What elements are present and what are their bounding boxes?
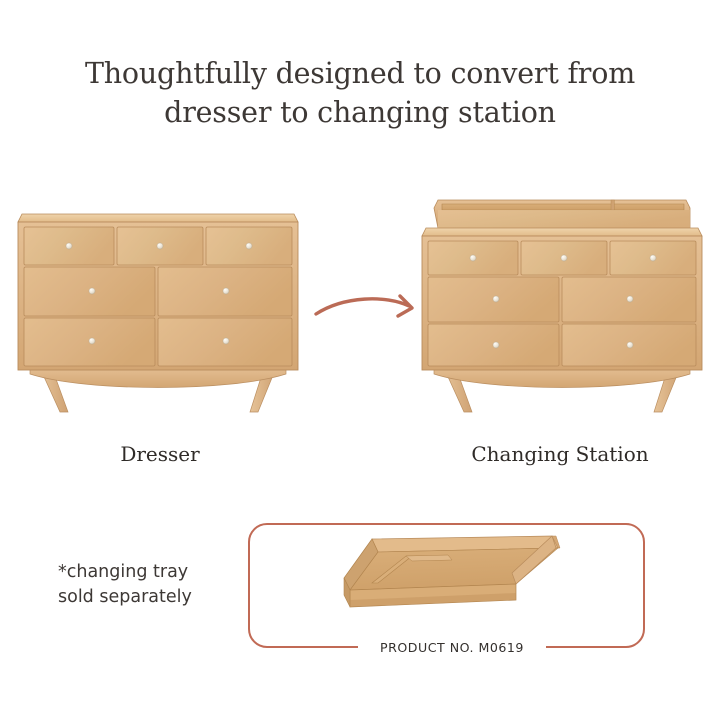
- changing-station-top: [422, 228, 702, 236]
- drawer-knob[interactable]: [246, 243, 252, 249]
- footnote-line-1: *changing tray: [58, 560, 248, 585]
- drawer-knob[interactable]: [89, 338, 95, 344]
- drawer-knob[interactable]: [89, 288, 95, 294]
- changing-station-illustration: [422, 200, 702, 412]
- tray-divider: [611, 200, 614, 210]
- dresser-illustration: [18, 214, 298, 412]
- dresser-label: Dresser: [0, 442, 320, 466]
- drawer-knob[interactable]: [561, 255, 567, 261]
- mounted-changing-tray: [434, 200, 690, 228]
- changing-station-label: Changing Station: [400, 442, 720, 466]
- changing-station-drawer-row-bottom: [428, 324, 696, 366]
- drawer-knob[interactable]: [223, 288, 229, 294]
- changing-station-drawer-row-middle: [428, 277, 696, 322]
- dresser-legs: [30, 366, 286, 412]
- drawer-knob[interactable]: [470, 255, 476, 261]
- dresser-drawer-row-middle: [24, 267, 292, 316]
- changing-tray-footnote: *changing tray sold separately: [58, 560, 248, 610]
- changing-tray-callout-frame: [248, 523, 645, 648]
- drawer-knob[interactable]: [493, 296, 499, 302]
- drawer-knob[interactable]: [157, 243, 163, 249]
- drawer-knob[interactable]: [650, 255, 656, 261]
- changing-station-drawer-row-top: [428, 241, 696, 275]
- drawer-knob[interactable]: [223, 338, 229, 344]
- infographic-canvas: Thoughtfully designed to convert from dr…: [0, 0, 720, 720]
- changing-station-legs: [434, 366, 690, 412]
- drawer-knob[interactable]: [627, 296, 633, 302]
- product-number-label: PRODUCT NO. M0619: [358, 638, 546, 658]
- drawer-knob[interactable]: [493, 342, 499, 348]
- drawer-knob[interactable]: [627, 342, 633, 348]
- drawer-knob[interactable]: [66, 243, 72, 249]
- dresser-drawer-row-bottom: [24, 318, 292, 366]
- conversion-arrow: [316, 296, 412, 316]
- footnote-line-2: sold separately: [58, 585, 248, 610]
- dresser-drawer-row-top: [24, 227, 292, 265]
- dresser-top: [18, 214, 298, 222]
